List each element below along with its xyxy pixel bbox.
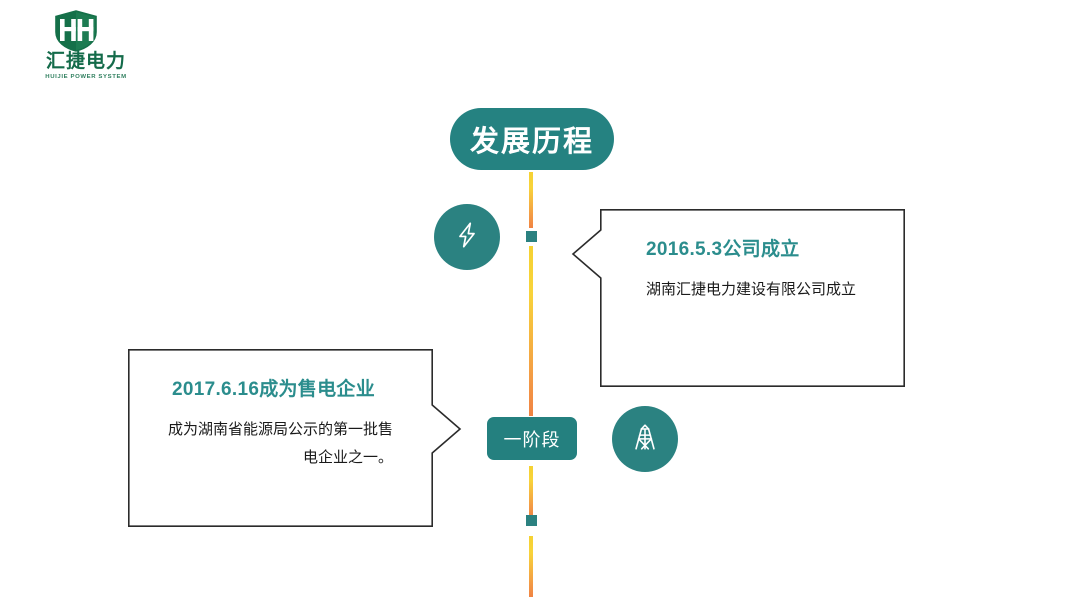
timeline-spine-segment — [529, 172, 533, 228]
company-logo: 汇捷电力 HUIJIE POWER SYSTEM — [30, 4, 140, 90]
logo-company-name: 汇捷电力 — [36, 52, 136, 71]
event-body: 湖南汇捷电力建设有限公司成立 — [646, 276, 879, 304]
power-tower-icon — [629, 421, 661, 458]
timeline-spine-segment — [529, 536, 533, 597]
timeline-title: 发展历程 — [450, 108, 614, 170]
slide-canvas: 汇捷电力 HUIJIE POWER SYSTEM 发展历程 — [0, 0, 1069, 597]
timeline-spine-segment — [529, 246, 533, 416]
event-body: 成为湖南省能源局公示的第一批售电企业之一。 — [154, 416, 393, 472]
timeline-node-marker — [526, 515, 537, 526]
timeline-node-marker — [526, 231, 537, 242]
event-card-2017[interactable]: 2017.6.16成为售电企业 成为湖南省能源局公示的第一批售电企业之一。 — [128, 349, 433, 527]
stage-badge[interactable]: 一阶段 — [487, 417, 577, 460]
event-card-2016[interactable]: 2016.5.3公司成立 湖南汇捷电力建设有限公司成立 — [600, 209, 905, 387]
shield-hh-logo-icon — [52, 8, 100, 54]
timeline-spine-segment — [529, 466, 533, 518]
event-heading: 2017.6.16成为售电企业 — [154, 379, 393, 402]
event-heading: 2016.5.3公司成立 — [646, 239, 879, 262]
logo-company-subtitle: HUIJIE POWER SYSTEM — [30, 74, 142, 79]
lightning-bolt-icon — [452, 220, 482, 255]
lightning-bolt-badge — [434, 204, 500, 270]
power-tower-badge — [612, 406, 678, 472]
